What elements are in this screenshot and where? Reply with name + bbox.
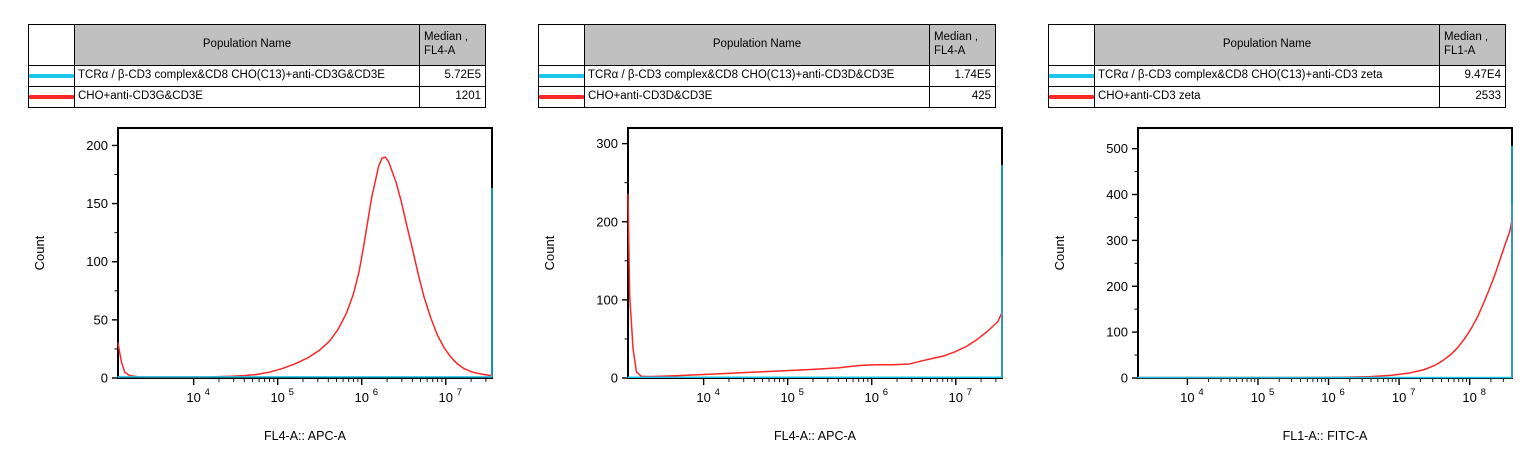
legend-color-swatch [1049, 95, 1094, 99]
y-tick-label: 300 [1106, 233, 1128, 248]
x-tick-exponent: 6 [883, 387, 888, 398]
y-tick-label: 200 [86, 138, 108, 153]
x-tick-label: 10 [439, 390, 453, 405]
header-population-name: Population Name [75, 25, 420, 66]
x-axis-title: FL4-A:: APC-A [264, 429, 347, 443]
population-name-cell: TCRα / β-CD3 complex&CD8 CHO(C13)+anti-C… [1095, 66, 1440, 87]
population-name-cell: CHO+anti-CD3G&CD3E [75, 87, 420, 108]
y-tick-label: 100 [596, 292, 618, 307]
x-tick-exponent: 5 [1269, 387, 1274, 398]
y-tick-label: 200 [596, 214, 618, 229]
y-tick-label: 0 [101, 371, 108, 386]
table-header-row: Population Name Median , FL4-A [29, 25, 486, 66]
plot-border [118, 128, 492, 378]
panel-0: Population Name Median , FL4-A TCRα / β-… [0, 0, 510, 466]
histogram-trace-0 [118, 157, 492, 377]
legend-swatch-cell [29, 87, 75, 108]
x-tick-exponent: 5 [799, 387, 804, 398]
header-median: Median , FL4-A [930, 25, 996, 66]
table-header-row: Population Name Median , FL1-A [1049, 25, 1506, 66]
table-row: CHO+anti-CD3D&CD3E 425 [539, 87, 996, 108]
x-tick-label: 10 [270, 390, 284, 405]
y-tick-label: 500 [1106, 141, 1128, 156]
flow-cytometry-figure: Population Name Median , FL4-A TCRα / β-… [0, 0, 1534, 466]
histogram-trace-1 [628, 166, 1002, 378]
legend-color-swatch [539, 95, 584, 99]
x-tick-label: 10 [186, 390, 200, 405]
y-tick-label: 0 [1121, 371, 1128, 386]
histogram-trace-1 [1138, 146, 1512, 377]
x-tick-label: 10 [354, 390, 368, 405]
histogram-trace-1 [118, 188, 492, 376]
x-tick-exponent: 7 [967, 387, 972, 398]
header-median-line1: Median , [1444, 31, 1488, 43]
legend-color-swatch [1049, 74, 1094, 78]
header-median: Median , FL4-A [420, 25, 486, 66]
x-tick-label: 10 [949, 390, 963, 405]
table-header-row: Population Name Median , FL4-A [539, 25, 996, 66]
header-population-name: Population Name [1095, 25, 1440, 66]
histogram-plot-2: 0100200300400500Count104105106107108FL1-… [1020, 112, 1530, 466]
table-row: CHO+anti-CD3 zeta 2533 [1049, 87, 1506, 108]
y-tick-label: 0 [611, 371, 618, 386]
x-tick-exponent: 7 [1410, 387, 1415, 398]
median-value-cell: 5.72E5 [420, 66, 486, 87]
median-value-cell: 1.74E5 [930, 66, 996, 87]
x-tick-exponent: 6 [373, 387, 378, 398]
legend-swatch-cell [1049, 87, 1095, 108]
x-axis-title: FL4-A:: APC-A [774, 429, 857, 443]
legend-swatch-cell [539, 66, 585, 87]
x-tick-exponent: 6 [1340, 387, 1345, 398]
header-population-name: Population Name [585, 25, 930, 66]
y-tick-label: 150 [86, 196, 108, 211]
legend-swatch-cell [29, 66, 75, 87]
y-tick-label: 400 [1106, 187, 1128, 202]
y-tick-label: 100 [1106, 325, 1128, 340]
population-name-cell: CHO+anti-CD3D&CD3E [585, 87, 930, 108]
table-row: CHO+anti-CD3G&CD3E 1201 [29, 87, 486, 108]
header-median-line2: FL1-A [1444, 45, 1501, 59]
x-tick-exponent: 4 [1198, 387, 1203, 398]
x-tick-exponent: 4 [205, 387, 210, 398]
histogram-svg: 050100150200Count104105106107FL4-A:: APC… [0, 112, 510, 466]
y-axis-title: Count [542, 235, 557, 270]
y-tick-label: 100 [86, 254, 108, 269]
panel-2: Population Name Median , FL1-A TCRα / β-… [1020, 0, 1530, 466]
legend-color-swatch [29, 74, 74, 78]
median-value-cell: 1201 [420, 87, 486, 108]
header-median-line2: FL4-A [424, 45, 481, 59]
y-tick-label: 200 [1106, 279, 1128, 294]
x-tick-label: 10 [1392, 390, 1406, 405]
x-tick-exponent: 4 [715, 387, 720, 398]
header-swatch-blank [29, 25, 75, 66]
table-row: TCRα / β-CD3 complex&CD8 CHO(C13)+anti-C… [29, 66, 486, 87]
population-name-cell: TCRα / β-CD3 complex&CD8 CHO(C13)+anti-C… [585, 66, 930, 87]
histogram-trace-0 [1138, 205, 1512, 378]
y-axis-title: Count [1052, 235, 1067, 270]
plot-border [1138, 128, 1512, 378]
x-tick-label: 10 [864, 390, 878, 405]
median-value-cell: 2533 [1440, 87, 1506, 108]
y-axis-title: Count [32, 235, 47, 270]
median-value-cell: 425 [930, 87, 996, 108]
header-median-line2: FL4-A [934, 45, 991, 59]
header-swatch-blank [1049, 25, 1095, 66]
header-median-line1: Median , [934, 31, 978, 43]
histogram-trace-0 [628, 194, 1002, 377]
legend-color-swatch [539, 74, 584, 78]
population-legend-table-0: Population Name Median , FL4-A TCRα / β-… [28, 24, 486, 108]
header-median: Median , FL1-A [1440, 25, 1506, 66]
x-tick-label: 10 [1180, 390, 1194, 405]
legend-swatch-cell [1049, 66, 1095, 87]
table-row: TCRα / β-CD3 complex&CD8 CHO(C13)+anti-C… [539, 66, 996, 87]
header-swatch-blank [539, 25, 585, 66]
y-tick-label: 300 [596, 136, 618, 151]
legend-color-swatch [29, 95, 74, 99]
median-value-cell: 9.47E4 [1440, 66, 1506, 87]
x-tick-label: 10 [780, 390, 794, 405]
x-tick-exponent: 8 [1481, 387, 1486, 398]
panel-1: Population Name Median , FL4-A TCRα / β-… [510, 0, 1020, 466]
x-tick-exponent: 5 [289, 387, 294, 398]
population-name-cell: TCRα / β-CD3 complex&CD8 CHO(C13)+anti-C… [75, 66, 420, 87]
histogram-plot-0: 050100150200Count104105106107FL4-A:: APC… [0, 112, 510, 466]
x-tick-label: 10 [1251, 390, 1265, 405]
x-tick-label: 10 [1462, 390, 1476, 405]
histogram-svg: 0100200300400500Count104105106107108FL1-… [1020, 112, 1530, 466]
x-axis-title: FL1-A:: FITC-A [1283, 429, 1368, 443]
x-tick-label: 10 [696, 390, 710, 405]
x-tick-label: 10 [1321, 390, 1335, 405]
histogram-plot-1: 0100200300Count104105106107FL4-A:: APC-A [510, 112, 1020, 466]
table-row: TCRα / β-CD3 complex&CD8 CHO(C13)+anti-C… [1049, 66, 1506, 87]
histogram-svg: 0100200300Count104105106107FL4-A:: APC-A [510, 112, 1020, 466]
population-legend-table-2: Population Name Median , FL1-A TCRα / β-… [1048, 24, 1506, 108]
population-name-cell: CHO+anti-CD3 zeta [1095, 87, 1440, 108]
legend-swatch-cell [539, 87, 585, 108]
population-legend-table-1: Population Name Median , FL4-A TCRα / β-… [538, 24, 996, 108]
x-tick-exponent: 7 [457, 387, 462, 398]
header-median-line1: Median , [424, 31, 468, 43]
plot-border [628, 128, 1002, 378]
y-tick-label: 50 [94, 312, 108, 327]
